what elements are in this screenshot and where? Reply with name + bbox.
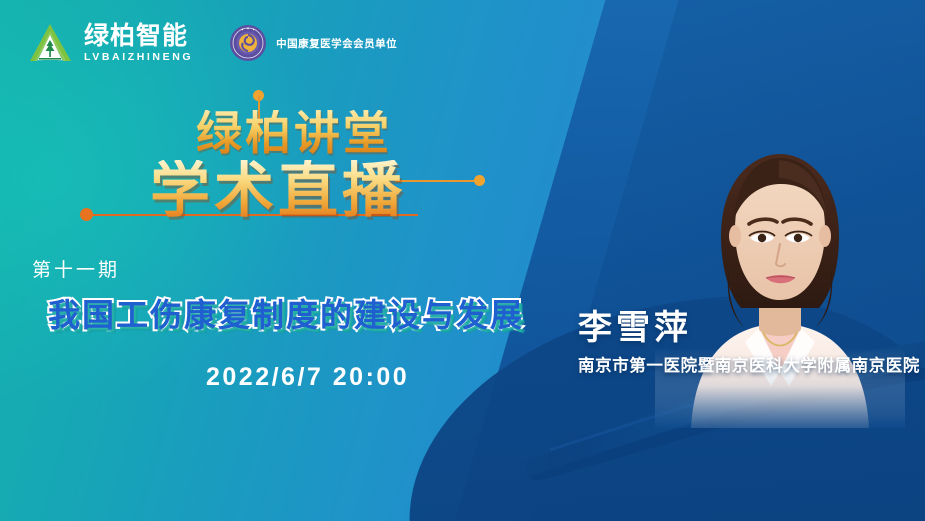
mountain-tree-logo-icon <box>28 22 74 64</box>
lecture-topic: 我国工伤康复制度的建设与发展 <box>48 298 524 334</box>
association-label: 中国康复医学会会员单位 <box>276 36 397 51</box>
deco-dot-bottom-left <box>80 208 93 221</box>
live-stream-poster: 绿柏智能 LVBAIZHINENG 中国康复医学会会员单位 <box>0 0 925 521</box>
broadcast-datetime: 2022/6/7 20:00 <box>206 363 409 392</box>
brand-text-block: 绿柏智能 LVBAIZHINENG <box>84 23 193 63</box>
association-badge: 中国康复医学会会员单位 <box>229 24 397 62</box>
speaker-organization: 南京市第一医院暨南京医科大学附属南京医院 <box>578 352 920 376</box>
brand-lockup: 绿柏智能 LVBAIZHINENG <box>28 22 193 64</box>
association-seal-icon <box>229 24 267 62</box>
brand-name-cn: 绿柏智能 <box>84 23 193 48</box>
poster-header: 绿柏智能 LVBAIZHINENG 中国康复医学会会员单位 <box>28 22 397 64</box>
title-line-two: 学术直播 <box>150 160 406 223</box>
deco-dot-top <box>253 90 264 101</box>
brand-name-en: LVBAIZHINENG <box>84 52 193 63</box>
program-title-block: 绿柏讲堂 学术直播 <box>196 110 406 223</box>
deco-line-right <box>395 180 481 182</box>
deco-dot-right <box>474 175 485 186</box>
episode-label: 第十一期 <box>32 255 120 282</box>
speaker-name: 李雪萍 <box>578 300 692 349</box>
title-line-one: 绿柏讲堂 <box>196 110 406 156</box>
